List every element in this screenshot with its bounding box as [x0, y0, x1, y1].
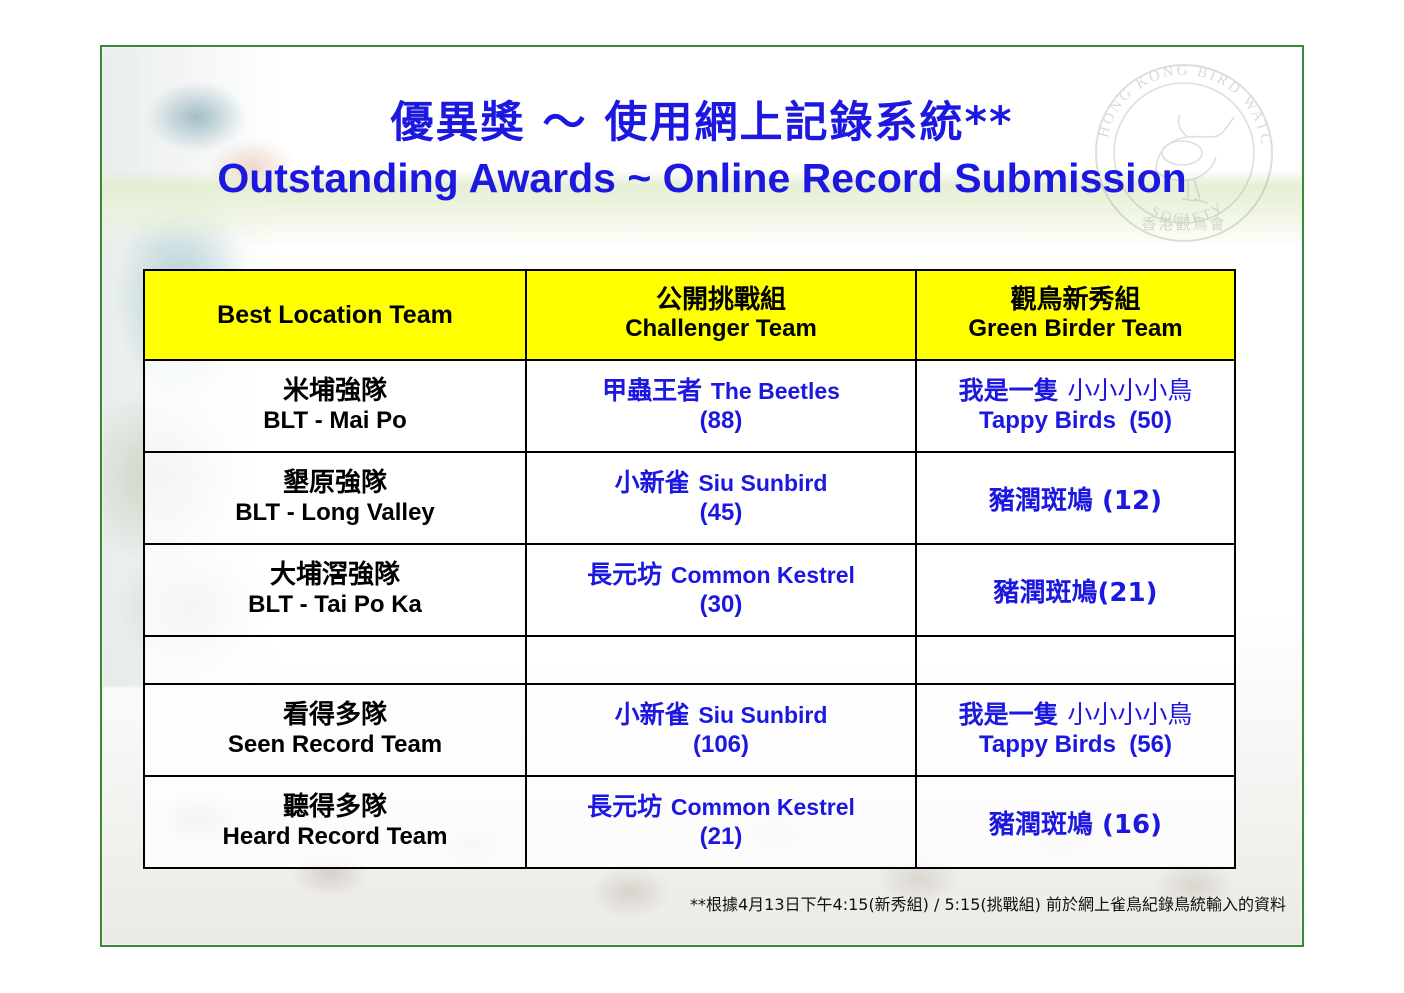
cell-challenger: 小新雀 Siu Sunbird (106)	[526, 684, 916, 776]
title-block: 優異獎 ～ 使用網上記錄系統** Outstanding Awards ~ On…	[102, 99, 1302, 204]
cell-category: 看得多隊 Seen Record Team	[144, 684, 526, 776]
column-header-challenger: 公開挑戰組 Challenger Team	[526, 270, 916, 360]
challenger-score: (106)	[527, 730, 915, 760]
column-header-best-location: Best Location Team	[144, 270, 526, 360]
cell-challenger: 長元坊 Common Kestrel (30)	[526, 544, 916, 636]
column-header-green-birder-cn: 觀鳥新秀組	[917, 286, 1234, 315]
cell-green-birder: 我是一隻 小小小小鳥 Tappy Birds (56)	[916, 684, 1235, 776]
green-birder-en-score: Tappy Birds (56)	[917, 730, 1234, 760]
header-row: Best Location Team 公開挑戰組 Challenger Team…	[144, 270, 1235, 360]
category-cn: 聽得多隊	[145, 792, 525, 823]
cell-category: 大埔滘強隊 BLT - Tai Po Ka	[144, 544, 526, 636]
cell-challenger: 小新雀 Siu Sunbird (45)	[526, 452, 916, 544]
category-en: BLT - Mai Po	[145, 406, 525, 436]
challenger-name-cn: 長元坊	[587, 560, 662, 589]
table-row: 大埔滘強隊 BLT - Tai Po Ka 長元坊 Common Kestrel…	[144, 544, 1235, 636]
slide-frame: HONG KONG BIRD WATCHING SOCIETY 香港觀鳥會 優異…	[100, 45, 1304, 947]
table-row: 聽得多隊 Heard Record Team 長元坊 Common Kestre…	[144, 776, 1235, 868]
challenger-score: (45)	[527, 498, 915, 528]
green-birder-score: (56)	[1129, 731, 1172, 758]
footnote: **根據4月13日下午4:15(新秀組) / 5:15(挑戰組) 前於網上雀鳥紀…	[690, 891, 1286, 915]
cell-category: 聽得多隊 Heard Record Team	[144, 776, 526, 868]
challenger-name-en: Common Kestrel	[671, 562, 855, 588]
challenger-score: (30)	[527, 590, 915, 620]
cell-empty	[526, 636, 916, 684]
cell-category: 墾原強隊 BLT - Long Valley	[144, 452, 526, 544]
challenger-name-cn: 甲蟲王者	[602, 376, 702, 405]
table-row: 米埔強隊 BLT - Mai Po 甲蟲王者 The Beetles (88) …	[144, 360, 1235, 452]
category-cn: 看得多隊	[145, 700, 525, 731]
challenger-name: 小新雀 Siu Sunbird	[527, 700, 915, 730]
cell-category: 米埔強隊 BLT - Mai Po	[144, 360, 526, 452]
challenger-name: 甲蟲王者 The Beetles	[527, 376, 915, 406]
challenger-name: 小新雀 Siu Sunbird	[527, 468, 915, 498]
cell-green-birder: 豬潤斑鳩 (16)	[916, 776, 1235, 868]
green-birder-name-en: Tappy Birds	[979, 407, 1116, 434]
category-en: Seen Record Team	[145, 730, 525, 760]
challenger-name-en: Common Kestrel	[671, 794, 855, 820]
table-row: 看得多隊 Seen Record Team 小新雀 Siu Sunbird (1…	[144, 684, 1235, 776]
green-birder-name: 我是一隻 小小小小鳥	[917, 376, 1234, 406]
column-header-green-birder-en: Green Birder Team	[917, 315, 1234, 344]
column-header-challenger-cn: 公開挑戰組	[527, 286, 915, 315]
cell-challenger: 長元坊 Common Kestrel (21)	[526, 776, 916, 868]
green-birder-en-score: Tappy Birds (50)	[917, 406, 1234, 436]
challenger-name-en: Siu Sunbird	[698, 702, 827, 728]
green-birder-score: (50)	[1129, 407, 1172, 434]
category-en: Heard Record Team	[145, 822, 525, 852]
challenger-score: (88)	[527, 406, 915, 436]
green-birder-name-cn: 我是一隻	[959, 700, 1059, 729]
green-birder-name: 我是一隻 小小小小鳥	[917, 700, 1234, 730]
green-birder-name-score: 豬潤斑鳩 (12)	[917, 480, 1234, 517]
green-birder-name-cn: 我是一隻	[959, 376, 1059, 405]
challenger-score: (21)	[527, 822, 915, 852]
green-birder-name-score: 豬潤斑鳩 (16)	[917, 804, 1234, 841]
table-head: Best Location Team 公開挑戰組 Challenger Team…	[144, 270, 1235, 360]
column-header-best-location-label: Best Location Team	[145, 301, 525, 330]
challenger-name-en: Siu Sunbird	[698, 470, 827, 496]
cell-empty	[144, 636, 526, 684]
challenger-name-cn: 小新雀	[615, 700, 690, 729]
column-header-challenger-en: Challenger Team	[527, 315, 915, 344]
challenger-name: 長元坊 Common Kestrel	[527, 560, 915, 590]
table-body: 米埔強隊 BLT - Mai Po 甲蟲王者 The Beetles (88) …	[144, 360, 1235, 868]
category-cn: 米埔強隊	[145, 376, 525, 407]
page-title-chinese: 優異獎 ～ 使用網上記錄系統**	[102, 99, 1302, 148]
challenger-name-cn: 小新雀	[615, 468, 690, 497]
category-cn: 墾原強隊	[145, 468, 525, 499]
green-birder-name-score: 豬潤斑鳩(21)	[917, 572, 1234, 609]
challenger-name: 長元坊 Common Kestrel	[527, 792, 915, 822]
page-title-english: Outstanding Awards ~ Online Record Submi…	[102, 154, 1302, 203]
cell-green-birder: 豬潤斑鳩 (12)	[916, 452, 1235, 544]
category-en: BLT - Tai Po Ka	[145, 590, 525, 620]
table-row-spacer	[144, 636, 1235, 684]
svg-text:香港觀鳥會: 香港觀鳥會	[1141, 215, 1226, 233]
challenger-name-en: The Beetles	[711, 378, 840, 404]
table-row: 墾原強隊 BLT - Long Valley 小新雀 Siu Sunbird (…	[144, 452, 1235, 544]
column-header-green-birder: 觀鳥新秀組 Green Birder Team	[916, 270, 1235, 360]
green-birder-name-en: Tappy Birds	[979, 731, 1116, 758]
green-birder-name-cn2: 小小小小鳥	[1067, 700, 1192, 729]
cell-green-birder: 豬潤斑鳩(21)	[916, 544, 1235, 636]
cell-empty	[916, 636, 1235, 684]
awards-table: Best Location Team 公開挑戰組 Challenger Team…	[143, 269, 1236, 869]
category-cn: 大埔滘強隊	[145, 560, 525, 591]
cell-challenger: 甲蟲王者 The Beetles (88)	[526, 360, 916, 452]
green-birder-name-cn2: 小小小小鳥	[1067, 376, 1192, 405]
cell-green-birder: 我是一隻 小小小小鳥 Tappy Birds (50)	[916, 360, 1235, 452]
challenger-name-cn: 長元坊	[587, 792, 662, 821]
category-en: BLT - Long Valley	[145, 498, 525, 528]
